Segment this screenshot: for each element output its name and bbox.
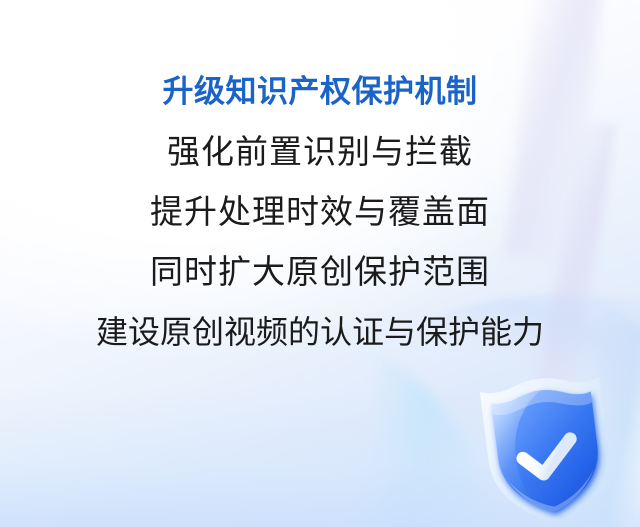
headline-line-5: 建设原创视频的认证与保护能力 (0, 302, 640, 362)
shield-check-icon (478, 374, 618, 527)
headline-line-3: 提升处理时效与覆盖面 (0, 182, 640, 242)
headline-line-title: 升级知识产权保护机制 (0, 62, 640, 122)
headline-block: 升级知识产权保护机制 强化前置识别与拦截 提升处理时效与覆盖面 同时扩大原创保护… (0, 0, 640, 362)
security-shield-badge (478, 374, 618, 527)
poster-canvas: 升级知识产权保护机制 强化前置识别与拦截 提升处理时效与覆盖面 同时扩大原创保护… (0, 0, 640, 527)
headline-line-4: 同时扩大原创保护范围 (0, 242, 640, 302)
headline-line-2: 强化前置识别与拦截 (0, 122, 640, 182)
